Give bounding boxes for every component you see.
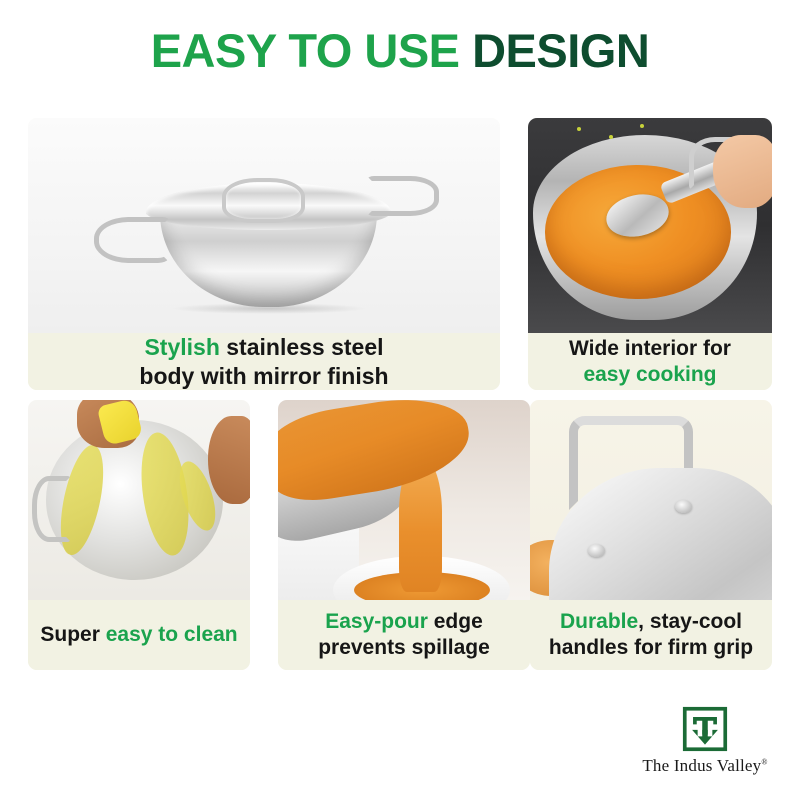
pouring-curry xyxy=(278,400,475,507)
brand-logo: The Indus Valley® xyxy=(636,706,774,776)
kadai-with-lid-illustration xyxy=(28,118,500,333)
caption-highlight: easy cooking xyxy=(583,363,716,386)
kadai-lid-knob xyxy=(222,178,306,223)
caption-highlight: easy to clean xyxy=(106,623,238,646)
feature-image-wide-interior xyxy=(528,118,772,333)
caption-text: Super xyxy=(40,623,105,646)
caption-text: edge xyxy=(428,610,483,633)
caption-text-line2: handles for firm grip xyxy=(549,636,753,659)
handle-closeup-illustration xyxy=(530,400,772,600)
feature-image-stay-cool-handles xyxy=(530,400,772,600)
caption-text: , stay-cool xyxy=(638,610,742,633)
caption-text-line2: body with mirror finish xyxy=(139,363,388,389)
feature-grid: Stylish stainless steel body with mirror… xyxy=(28,118,772,670)
brand-name-text: The Indus Valley xyxy=(642,756,761,775)
feature-card-stylish-body: Stylish stainless steel body with mirror… xyxy=(28,118,500,390)
feature-card-easy-clean: Super easy to clean xyxy=(28,400,250,670)
caption-highlight: Easy-pour xyxy=(325,610,428,633)
feature-caption-wide-interior: Wide interior for easy cooking xyxy=(528,333,772,390)
pouring-curry-illustration xyxy=(278,400,530,600)
caption-text-line2: prevents spillage xyxy=(318,636,490,659)
garnish-speck xyxy=(577,127,581,131)
caption-highlight: Durable xyxy=(560,610,638,633)
brand-name: The Indus Valley® xyxy=(636,756,774,776)
caption-text: Wide interior for xyxy=(569,337,731,360)
caption-highlight: Stylish xyxy=(144,334,219,360)
page-title-highlight: EASY TO USE xyxy=(151,24,460,77)
kadai-handle-left xyxy=(32,476,71,542)
kadai-handle-right xyxy=(367,176,438,216)
feature-caption-easy-pour: Easy-pour edge prevents spillage xyxy=(278,600,530,670)
feature-image-easy-pour xyxy=(278,400,530,600)
page-title-rest: DESIGN xyxy=(472,24,649,77)
cleaning-kadai-illustration xyxy=(28,400,250,600)
page-title: EASY TO USE DESIGN xyxy=(0,26,800,75)
trademark-symbol: ® xyxy=(761,757,767,766)
feature-caption-stylish-body: Stylish stainless steel body with mirror… xyxy=(28,333,500,390)
feature-image-easy-clean xyxy=(28,400,250,600)
curry-stirring-illustration xyxy=(528,118,772,333)
caption-text: stainless steel xyxy=(220,334,384,360)
hand-right xyxy=(208,416,250,504)
feature-card-stay-cool-handles: Durable, stay-cool handles for firm grip xyxy=(530,400,772,670)
rivet xyxy=(588,544,605,557)
feature-caption-easy-clean: Super easy to clean xyxy=(28,600,250,670)
indus-valley-emblem-icon xyxy=(682,706,728,752)
kadai-handle-left xyxy=(94,217,170,264)
hand xyxy=(713,135,772,208)
feature-card-easy-pour: Easy-pour edge prevents spillage xyxy=(278,400,530,670)
feature-caption-stay-cool-handles: Durable, stay-cool handles for firm grip xyxy=(530,600,772,670)
garnish-speck xyxy=(609,135,613,139)
feature-card-wide-interior: Wide interior for easy cooking xyxy=(528,118,772,390)
feature-image-stylish-body xyxy=(28,118,500,333)
garnish-speck xyxy=(640,124,644,128)
